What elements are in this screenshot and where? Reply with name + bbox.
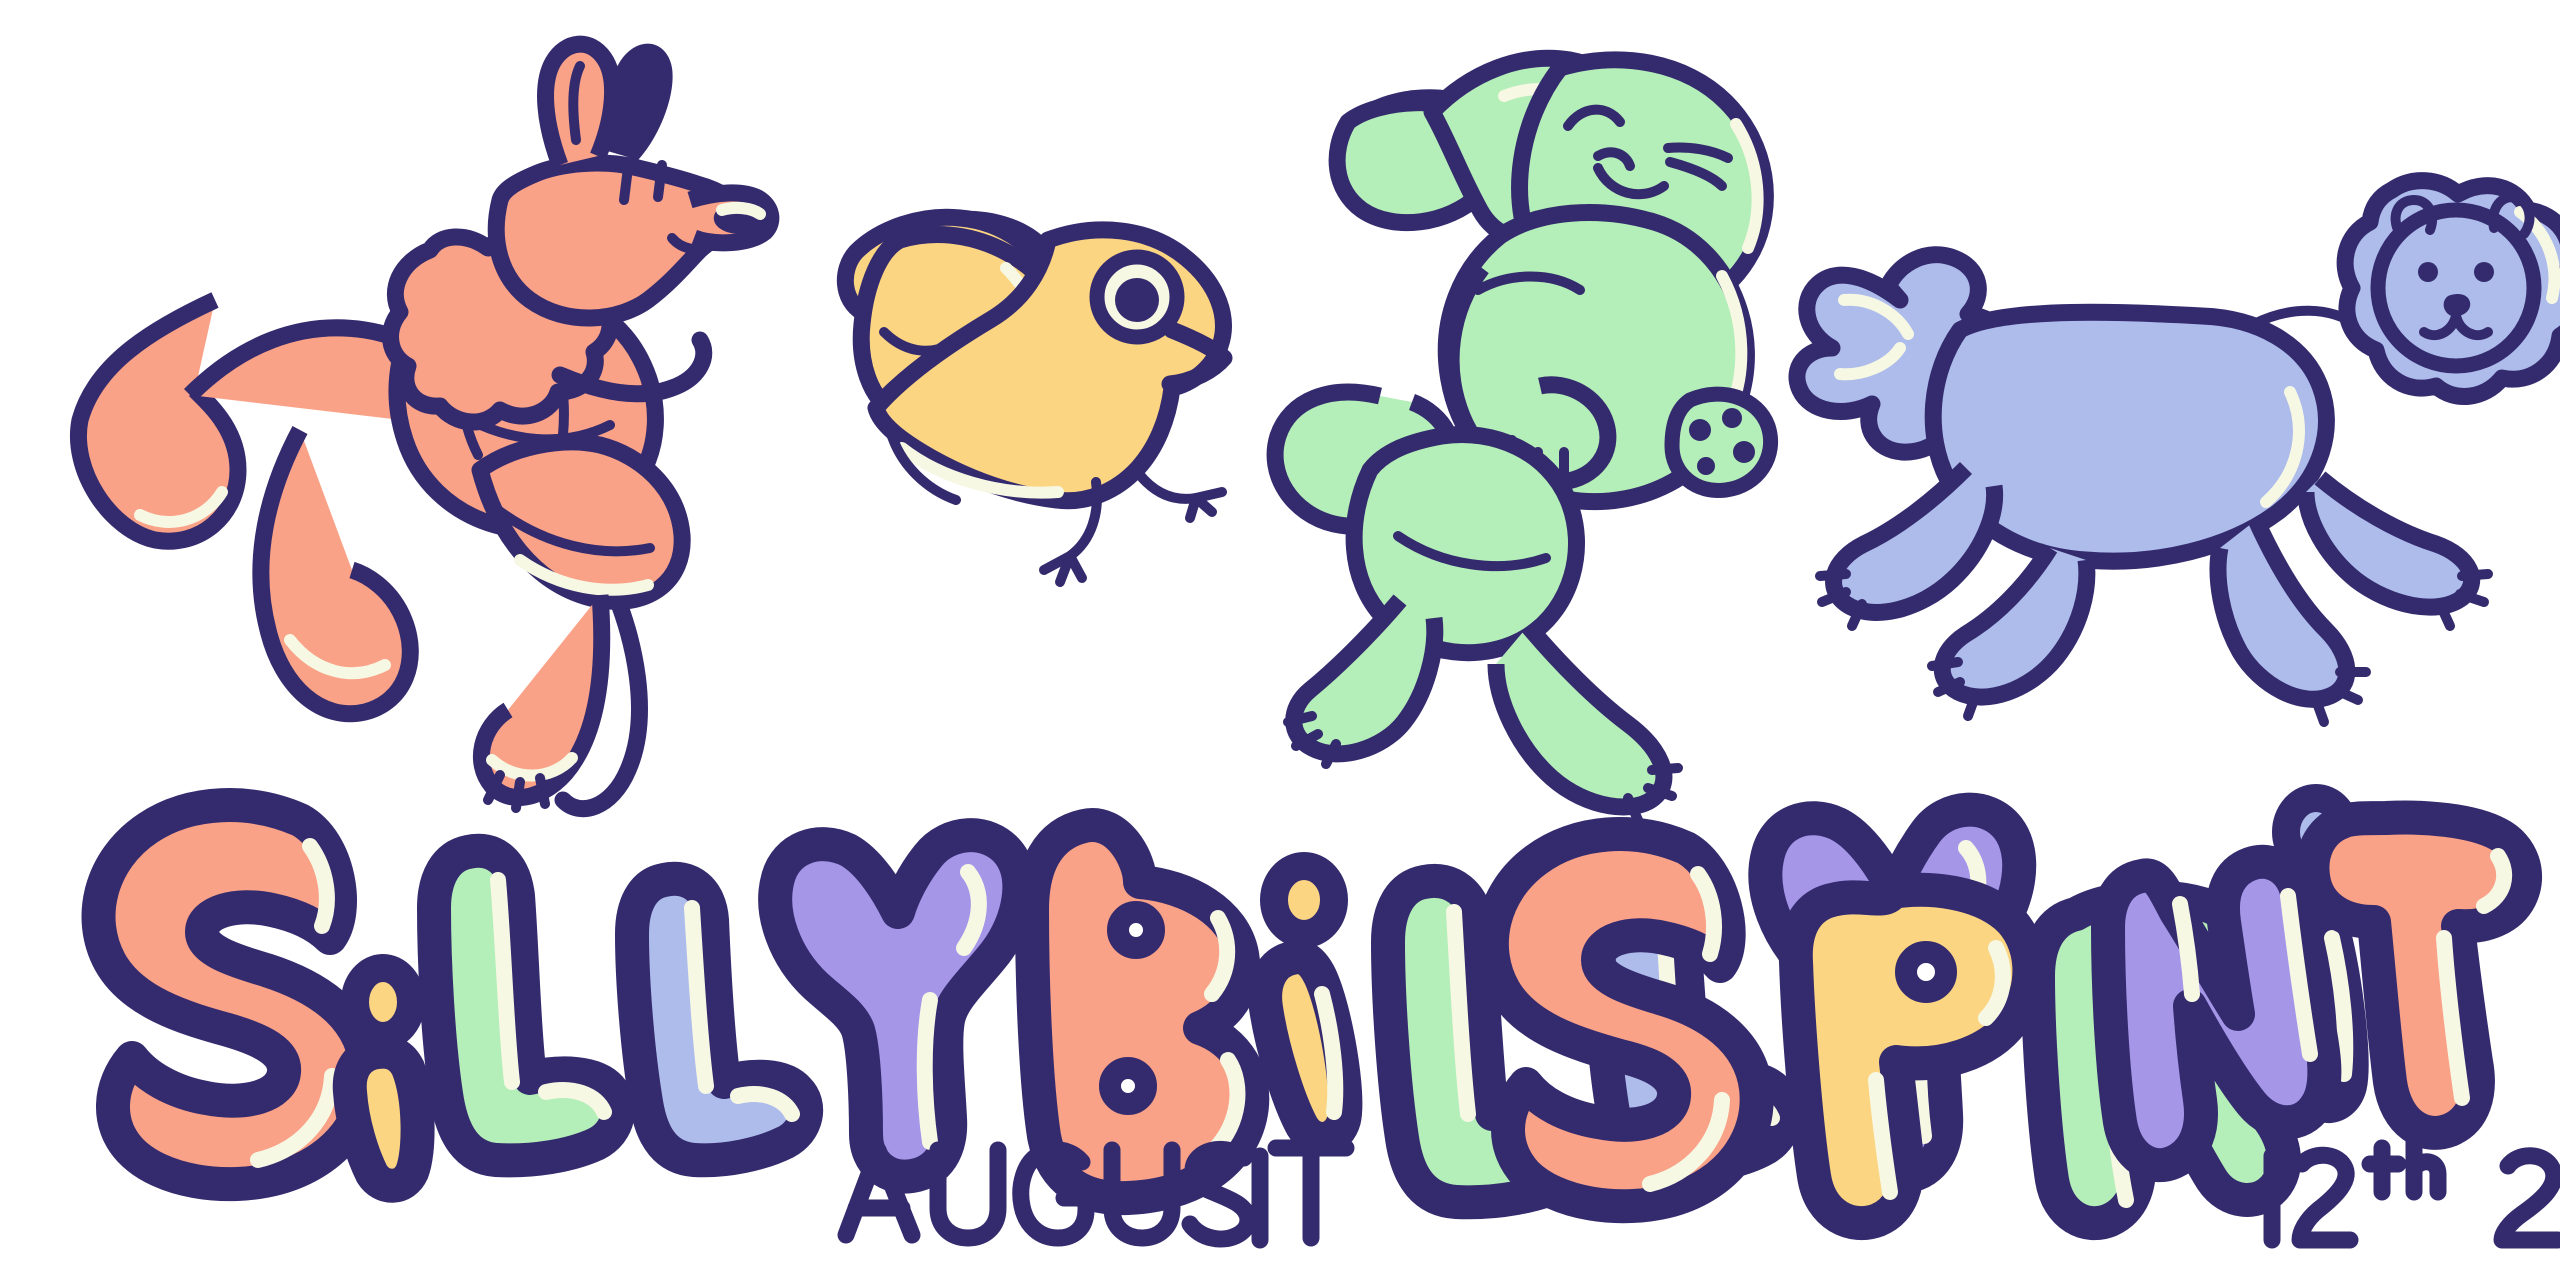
date-text-semantic: AUGUST 12th 2024 xyxy=(0,1140,2560,1141)
title-text-semantic: Silly Billy Sprint xyxy=(0,790,2560,791)
poster-canvas: .ink { fill:none; stroke:#342a6e; stroke… xyxy=(0,0,2560,1278)
date-layer: .dt { fill:none; stroke:#342a6e; stroke-… xyxy=(0,0,2560,1278)
